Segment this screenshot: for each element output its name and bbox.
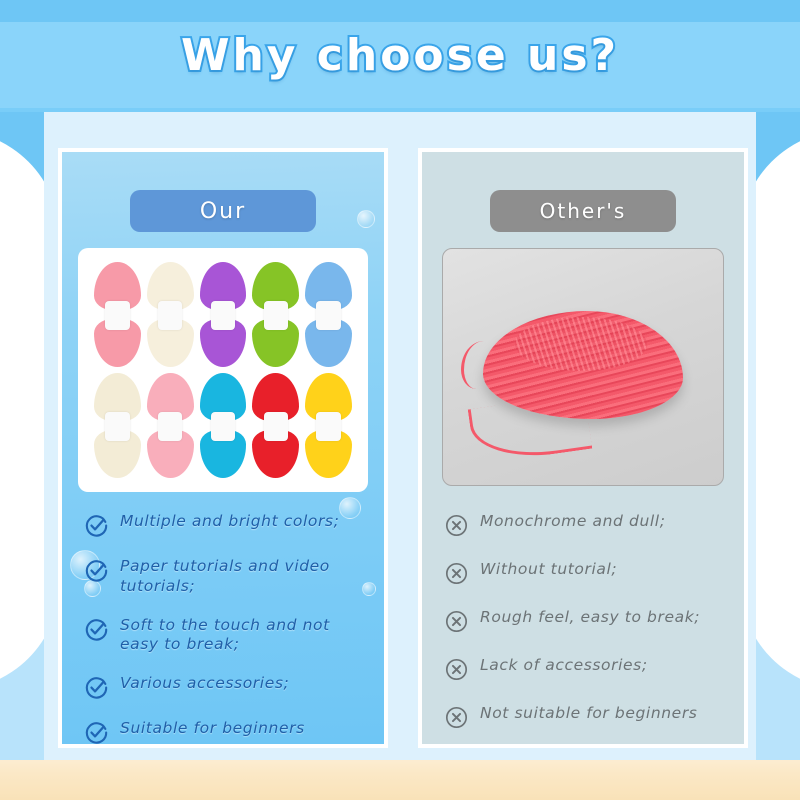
our-panel: Our Multiple and bright colors;Paper tut…	[58, 148, 388, 748]
yarn-skein-cyan	[198, 371, 249, 480]
yarn-skein-yellow	[303, 371, 354, 480]
list-item: Suitable for beginners	[84, 719, 370, 745]
list-item-label: Soft to the touch and not easy to break;	[120, 616, 370, 656]
list-item: Rough feel, easy to break;	[444, 608, 730, 634]
bubble-decoration	[357, 210, 375, 228]
our-badge: Our	[130, 190, 316, 232]
list-item: Monochrome and dull;	[444, 512, 730, 538]
header-band	[0, 108, 800, 112]
yarn-skein-pink	[92, 260, 143, 369]
page-title: Why choose us?	[0, 30, 800, 81]
yarn-skein-ivory	[92, 371, 143, 480]
list-item-label: Monochrome and dull;	[480, 512, 666, 532]
list-item-label: Various accessories;	[120, 674, 289, 694]
yarn-tail-strand	[461, 341, 499, 389]
check-circle-icon	[84, 513, 109, 538]
yarn-skein-cream	[145, 260, 196, 369]
yarn-tail-strand	[468, 393, 593, 465]
list-item-label: Not suitable for beginners	[480, 704, 697, 724]
other-badge: Other's	[490, 190, 676, 232]
check-circle-icon	[84, 558, 109, 583]
header-banner: Why choose us?	[0, 0, 800, 112]
yarn-skein-red	[250, 371, 301, 480]
list-item: Multiple and bright colors;	[84, 512, 370, 538]
our-feature-list: Multiple and bright colors;Paper tutoria…	[84, 512, 370, 764]
other-panel: Other's Monochrome and dull;Without tuto…	[418, 148, 748, 748]
yarn-skein-blue	[303, 260, 354, 369]
yarn-skein-green	[250, 260, 301, 369]
yarn-skein-purple	[198, 260, 249, 369]
list-item-label: Rough feel, easy to break;	[480, 608, 700, 628]
yarn-skein-pink	[145, 371, 196, 480]
list-item: Without tutorial;	[444, 560, 730, 586]
check-circle-icon	[84, 617, 109, 642]
list-item: Various accessories;	[84, 674, 370, 700]
check-circle-icon	[84, 720, 109, 745]
x-circle-icon	[444, 513, 469, 538]
x-circle-icon	[444, 705, 469, 730]
list-item: Paper tutorials and video tutorials;	[84, 557, 370, 597]
list-item-label: Suitable for beginners	[120, 719, 305, 739]
list-item-label: Paper tutorials and video tutorials;	[120, 557, 370, 597]
other-feature-list: Monochrome and dull;Without tutorial;Rou…	[444, 512, 730, 752]
list-item-label: Lack of accessories;	[480, 656, 648, 676]
yarn-skein-grid-row1	[92, 260, 354, 480]
our-product-photo	[78, 248, 368, 492]
x-circle-icon	[444, 657, 469, 682]
other-product-photo	[442, 248, 724, 486]
header-band	[0, 0, 800, 22]
list-item-label: Multiple and bright colors;	[120, 512, 339, 532]
list-item: Lack of accessories;	[444, 656, 730, 682]
list-item: Soft to the touch and not easy to break;	[84, 616, 370, 656]
check-circle-icon	[84, 675, 109, 700]
x-circle-icon	[444, 561, 469, 586]
list-item-label: Without tutorial;	[480, 560, 617, 580]
list-item: Not suitable for beginners	[444, 704, 730, 730]
x-circle-icon	[444, 609, 469, 634]
infographic-canvas: Why choose us? Our Multiple and bright c…	[0, 0, 800, 800]
